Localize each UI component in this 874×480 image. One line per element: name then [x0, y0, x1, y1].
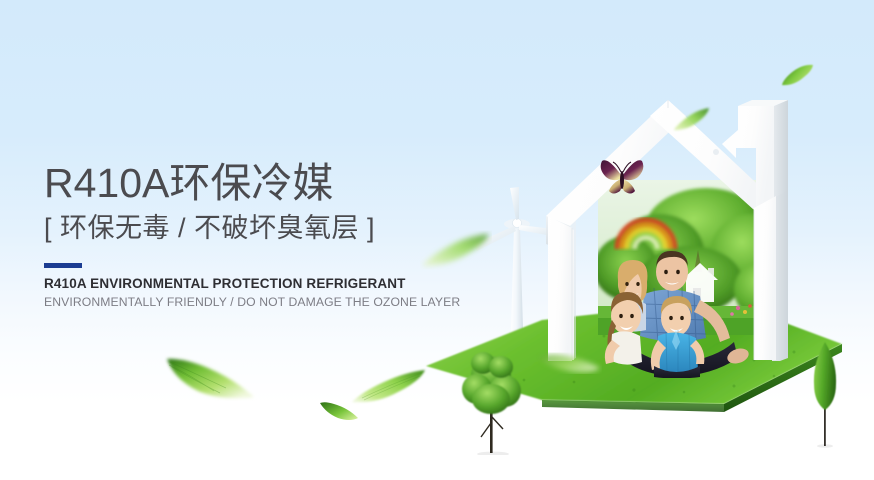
butterfly-icon [596, 155, 648, 199]
headline-block: R410A环保冷媒 [ 环保无毒 / 不破坏臭氧层 ] R410A ENVIRO… [44, 160, 464, 311]
leaf-icon [672, 106, 712, 132]
leaf-icon [164, 355, 260, 401]
tree-left-icon [459, 345, 527, 455]
leaf-icon [536, 352, 602, 378]
promo-banner: R410A环保冷媒 [ 环保无毒 / 不破坏臭氧层 ] R410A ENVIRO… [0, 0, 874, 480]
page-subtitle-english: ENVIRONMENTALLY FRIENDLY / DO NOT DAMAGE… [44, 294, 464, 311]
page-title: R410A环保冷媒 [44, 160, 464, 206]
leaf-icon [780, 62, 816, 88]
page-title-english: R410A ENVIRONMENTAL PROTECTION REFRIGERA… [44, 275, 464, 292]
accent-divider [44, 263, 82, 268]
tree-right-icon [810, 340, 840, 448]
family-photo [588, 246, 758, 378]
page-subtitle: [ 环保无毒 / 不破坏臭氧层 ] [44, 208, 464, 248]
leaf-icon [350, 368, 428, 406]
